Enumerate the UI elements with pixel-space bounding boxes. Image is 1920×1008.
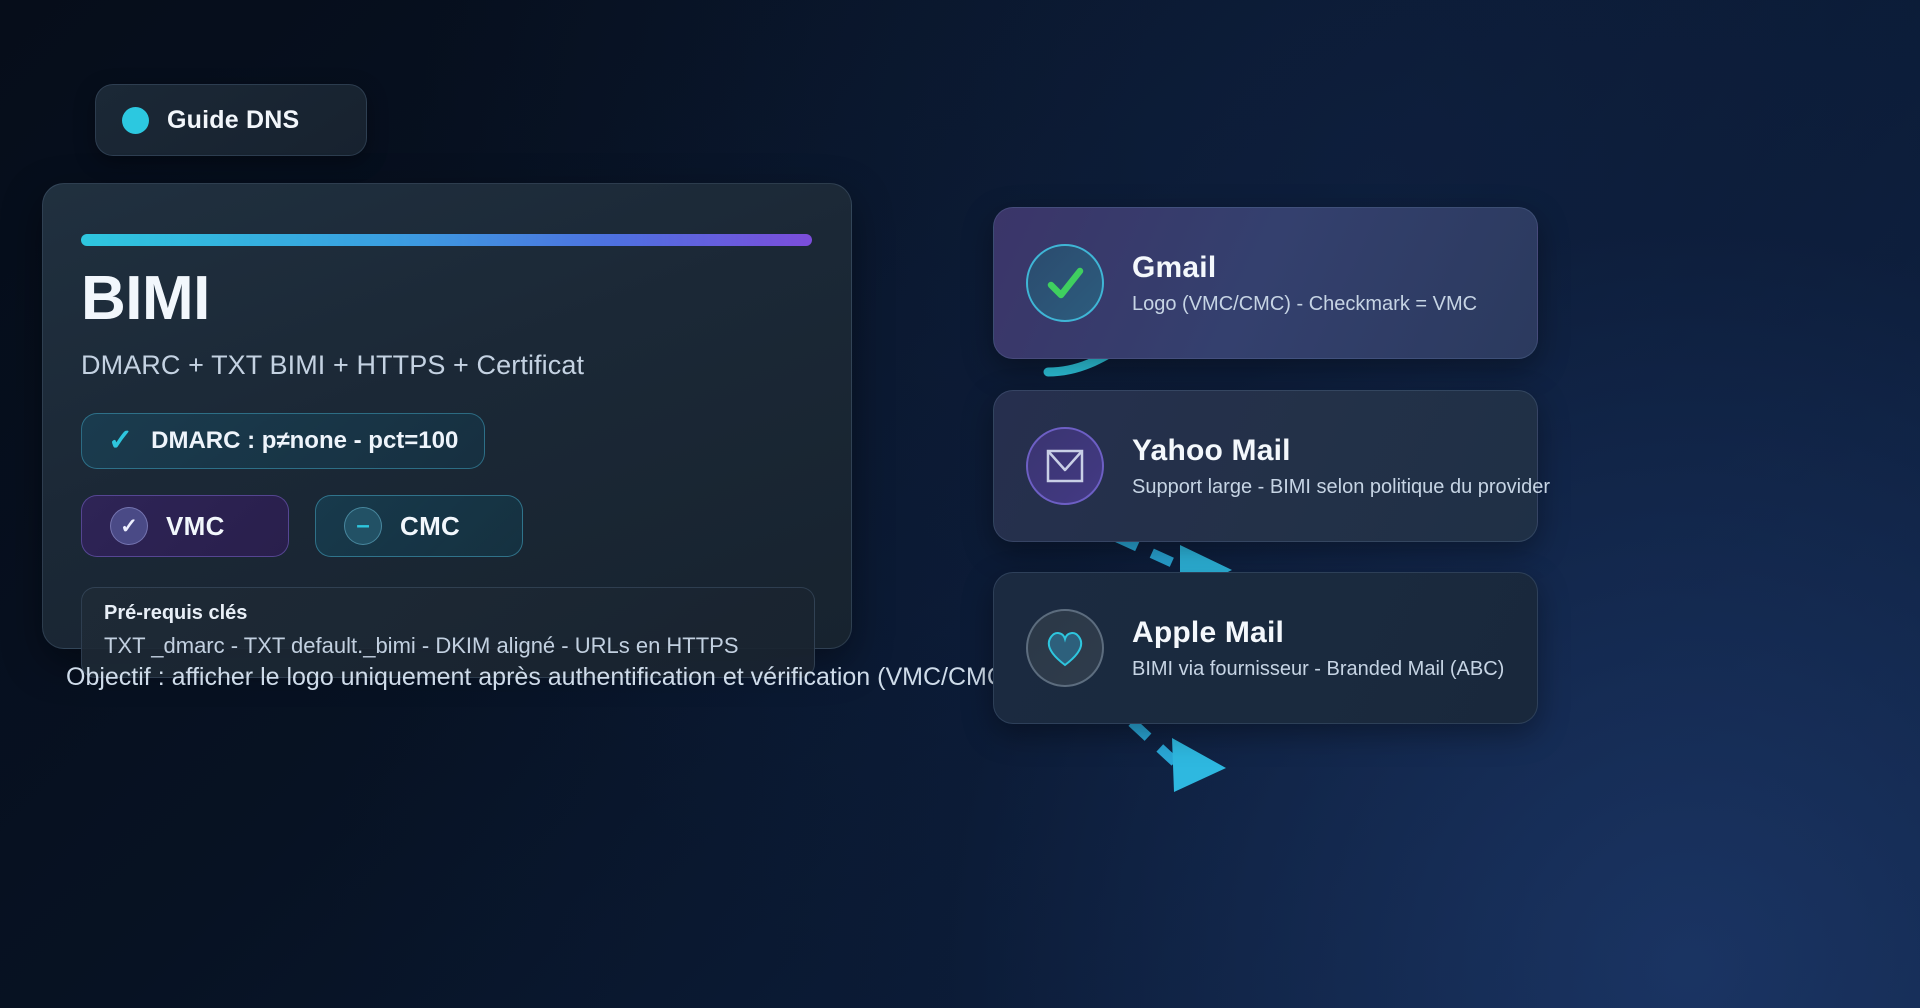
provider-description: Logo (VMC/CMC) - Checkmark = VMC [1132,293,1477,316]
accent-gradient-bar [81,234,812,246]
certificate-chip-row: ✓ VMC – CMC [81,495,813,557]
provider-text-group: Apple Mail BIMI via fournisseur - Brande… [1132,616,1504,681]
minus-circle-icon: – [344,507,382,545]
vmc-chip-label: VMC [166,511,225,542]
bimi-card: BIMI DMARC + TXT BIMI + HTTPS + Certific… [42,183,852,649]
provider-text-group: Yahoo Mail Support large - BIMI selon po… [1132,434,1505,499]
envelope-icon [1026,427,1104,505]
provider-name: Gmail [1132,251,1477,285]
provider-text-group: Gmail Logo (VMC/CMC) - Checkmark = VMC [1132,251,1477,316]
dmarc-status-chip[interactable]: ✓ DMARC : p≠none - pct=100 [81,413,485,469]
prerequisites-text: TXT _dmarc - TXT default._bimi - DKIM al… [104,633,792,659]
provider-card-yahoo-mail[interactable]: Yahoo Mail Support large - BIMI selon po… [993,390,1538,542]
dmarc-chip-label: DMARC : p≠none - pct=100 [151,427,458,455]
objective-caption: Objectif : afficher le logo uniquement a… [66,663,1013,692]
provider-card-gmail[interactable]: Gmail Logo (VMC/CMC) - Checkmark = VMC [993,207,1538,359]
cmc-chip-label: CMC [400,511,460,542]
status-dot-icon [122,107,149,134]
vmc-chip[interactable]: ✓ VMC [81,495,289,557]
bimi-subtitle: DMARC + TXT BIMI + HTTPS + Certificat [81,350,813,381]
provider-name: Apple Mail [1132,616,1504,650]
prerequisites-title: Pré-requis clés [104,602,792,625]
guide-badge[interactable]: Guide DNS [95,84,367,156]
connector-arrowhead-apple [1172,738,1226,792]
diagram-canvas: Guide DNS BIMI DMARC + TXT BIMI + HTTPS … [0,0,1920,1008]
provider-description: BIMI via fournisseur - Branded Mail (ABC… [1132,658,1504,681]
provider-description: Support large - BIMI selon politique du … [1132,476,1505,499]
page-title: BIMI [81,268,813,330]
guide-badge-label: Guide DNS [167,106,299,135]
heart-icon [1026,609,1104,687]
green-check-icon [1026,244,1104,322]
provider-card-apple-mail[interactable]: Apple Mail BIMI via fournisseur - Brande… [993,572,1538,724]
provider-name: Yahoo Mail [1132,434,1505,468]
cmc-chip[interactable]: – CMC [315,495,523,557]
check-circle-icon: ✓ [110,507,148,545]
check-icon: ✓ [108,426,133,456]
